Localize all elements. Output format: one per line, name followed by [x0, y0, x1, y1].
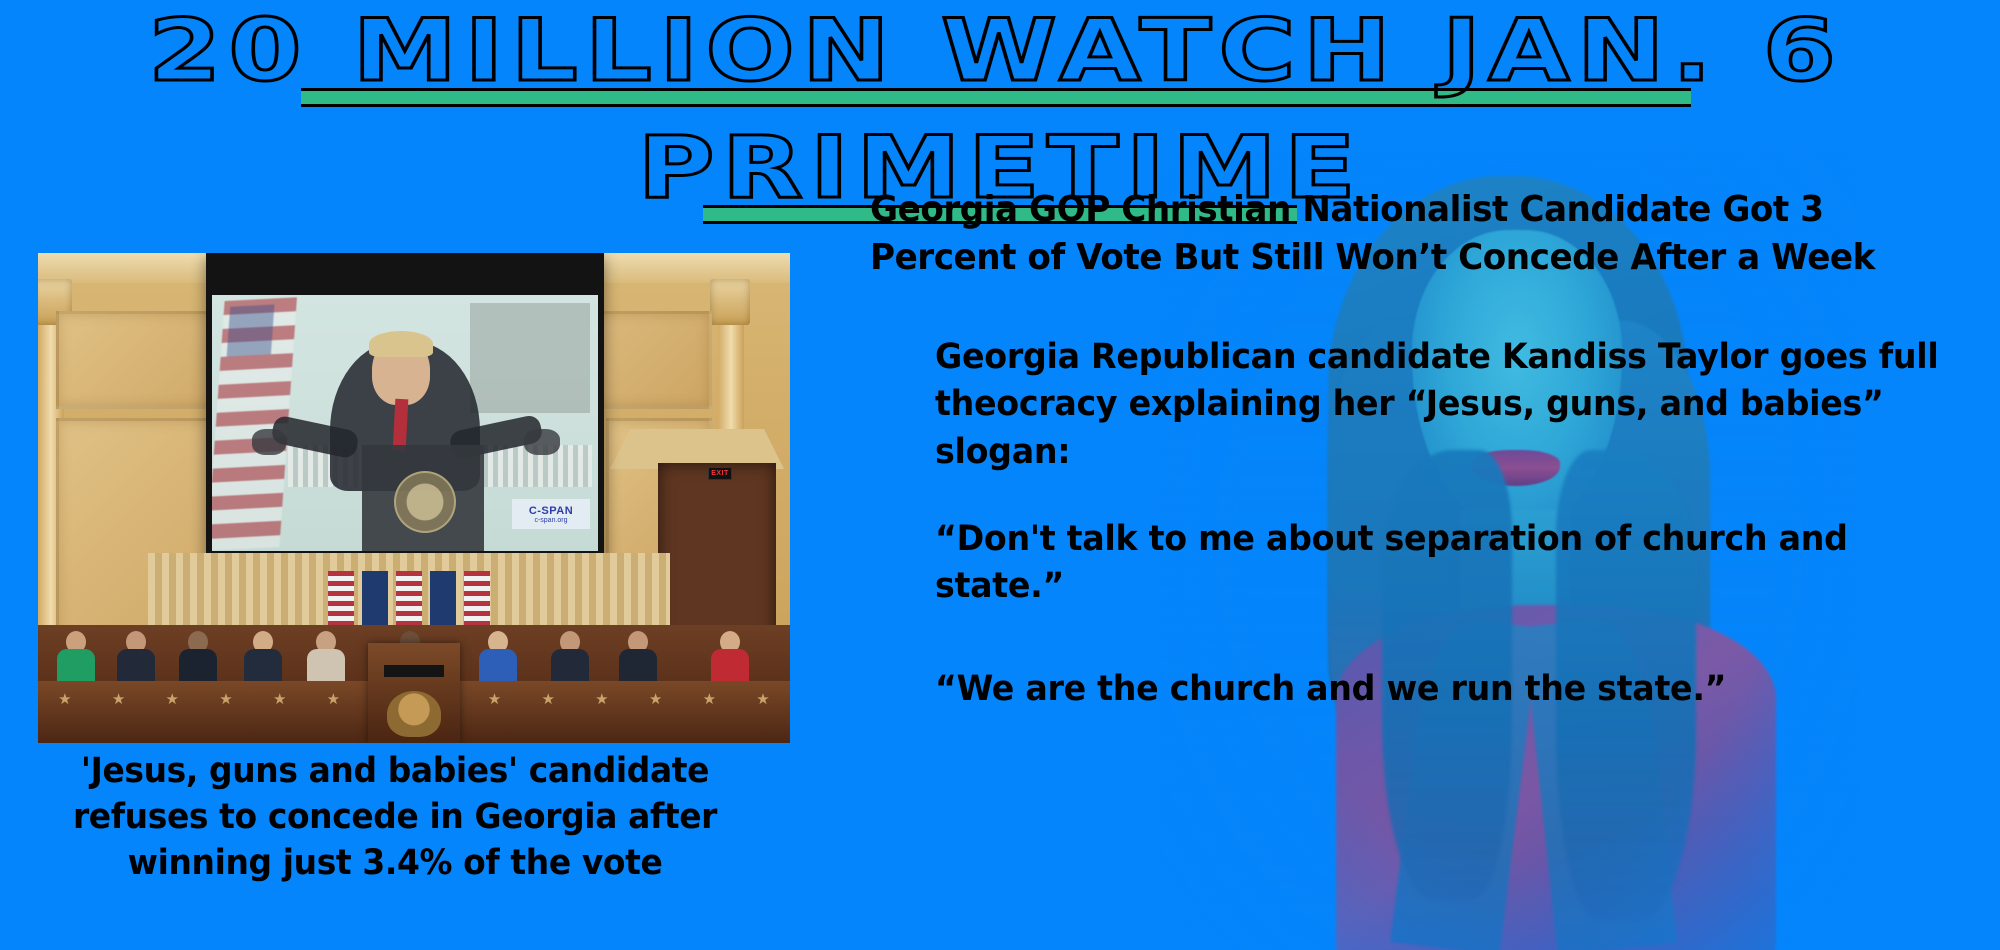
- hearing-room-doorway: [658, 463, 776, 648]
- cspan-logo-text: C-SPAN: [529, 505, 573, 517]
- projection-screen: C-SPAN c-span.org: [206, 253, 604, 561]
- committee-member: [56, 631, 96, 685]
- slide-canvas: 20 MILLION WATCH JAN. 6 PRIMETIME EXIT: [0, 0, 2000, 950]
- committee-dais: ★★★★★★ ★★★★★★ ★★: [38, 625, 790, 743]
- committee-member: [306, 631, 346, 685]
- committee-member: [710, 631, 750, 685]
- speaker-hand-right: [524, 429, 560, 455]
- photo-caption: 'Jesus, guns and babies' candidate refus…: [24, 748, 767, 887]
- committee-member: [618, 631, 658, 685]
- article-paragraph-1: Georgia Republican candidate Kandiss Tay…: [935, 334, 1942, 476]
- title-line-1-text: 20 MILLION WATCH JAN. 6: [148, 8, 1843, 94]
- committee-member: [550, 631, 590, 685]
- article-headline: Georgia GOP Christian Nationalist Candid…: [870, 186, 1934, 282]
- committee-member: [178, 631, 218, 685]
- speaker-hair: [369, 331, 433, 357]
- presidential-seal: [394, 471, 456, 533]
- exit-sign: EXIT: [708, 467, 732, 480]
- pilaster-capital-right: [710, 279, 750, 325]
- eagle-seal: [387, 691, 441, 737]
- title-underline-1: [301, 88, 1690, 107]
- chairman-podium: [368, 643, 460, 743]
- speaker-hand-left: [252, 429, 286, 455]
- flag-canton: [227, 304, 275, 356]
- jan-6-hearing-photo: EXIT: [38, 253, 790, 743]
- projection-screen-image: C-SPAN c-span.org: [212, 295, 598, 551]
- title-line-1: 20 MILLION WATCH JAN. 6: [0, 8, 2000, 107]
- article-quote-2: “We are the church and we run the state.…: [935, 666, 1942, 713]
- committee-member: [478, 631, 518, 685]
- article-quote-1: “Don't talk to me about separation of ch…: [935, 516, 1942, 611]
- committee-member: [116, 631, 156, 685]
- presidential-podium: [362, 445, 484, 551]
- committee-member: [243, 631, 283, 685]
- speaker-tie: [393, 399, 409, 452]
- cspan-url-text: c-span.org: [534, 517, 567, 524]
- chairman-nameplate: [384, 665, 444, 677]
- background-building: [470, 303, 590, 413]
- right-text-column: Georgia GOP Christian Nationalist Candid…: [860, 186, 2000, 950]
- exit-sign-label: EXIT: [711, 470, 729, 477]
- cspan-watermark: C-SPAN c-span.org: [512, 499, 590, 529]
